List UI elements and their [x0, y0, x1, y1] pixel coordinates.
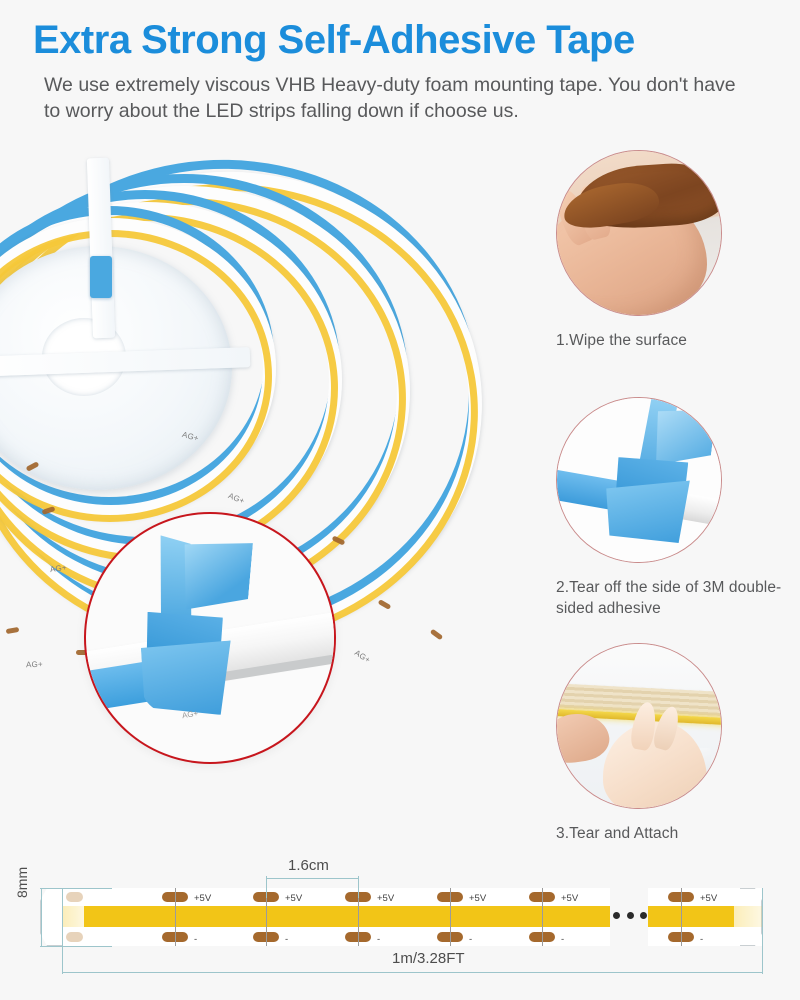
- step-3: 3.Tear and Attach: [556, 643, 800, 844]
- width-dim-tick: [41, 888, 42, 946]
- width-dim-top: [40, 888, 112, 889]
- width-label: 8mm: [14, 867, 30, 898]
- pad-label-negative: -: [377, 934, 380, 945]
- solder-pad-faint: [66, 932, 83, 942]
- ellipsis-dot: [627, 912, 634, 919]
- strip-marking: AG+: [26, 660, 43, 670]
- liner-tab: [90, 256, 112, 298]
- adhesive-liner-twist: [606, 481, 692, 546]
- pitch-label: 1.6cm: [288, 857, 329, 874]
- magnifier-callout: AG+: [84, 512, 336, 764]
- length-label: 1m/3.28FT: [392, 950, 465, 967]
- pad-tick: [681, 888, 682, 946]
- ellipsis-dot: [613, 912, 620, 919]
- width-dim-bottom: [40, 946, 112, 947]
- step-2-label: 2.Tear off the side of 3M double-sided a…: [556, 577, 800, 619]
- pad-label-positive: +5V: [469, 893, 486, 904]
- page-subtitle: We use extremely viscous VHB Heavy-duty …: [44, 72, 744, 124]
- step-1: 1.Wipe the surface: [556, 150, 800, 351]
- pad-tick: [450, 888, 451, 946]
- length-dim-tick-right: [762, 888, 763, 974]
- cob-fade-right: [734, 906, 762, 927]
- cob-fade-left: [62, 906, 86, 927]
- pitch-dim-tick-left: [266, 876, 267, 898]
- strip-marking: AG+: [181, 709, 198, 720]
- pad-label-positive: +5V: [700, 893, 717, 904]
- pad-label-negative: -: [561, 934, 564, 945]
- ellipsis-dot: [640, 912, 647, 919]
- adhesive-liner-fold: [179, 537, 253, 615]
- length-dim-tick-left: [62, 888, 63, 974]
- pad-tick: [175, 888, 176, 946]
- pitch-dim-tick-right: [358, 876, 359, 898]
- installation-steps: 1.Wipe the surface 2.Tear off the side o…: [556, 150, 800, 844]
- strip-end-cap-left: [40, 888, 62, 946]
- step-3-image: [556, 643, 722, 809]
- step-2-image: [556, 397, 722, 563]
- step-2: 2.Tear off the side of 3M double-sided a…: [556, 397, 800, 619]
- pad-label-positive: +5V: [377, 893, 394, 904]
- pad-label-positive: +5V: [561, 893, 578, 904]
- length-dim-line: [62, 972, 763, 973]
- step-1-image: [556, 150, 722, 316]
- pad-label-negative: -: [285, 934, 288, 945]
- cob-emitter-main: [84, 906, 610, 927]
- pad-label-negative: -: [700, 934, 703, 945]
- pad-label-positive: +5V: [194, 893, 211, 904]
- cob-emitter-tail: [648, 906, 734, 927]
- page-title: Extra Strong Self-Adhesive Tape: [33, 18, 635, 63]
- pad-label-negative: -: [469, 934, 472, 945]
- continuation-ellipsis: [613, 912, 647, 919]
- solder-pad-faint: [66, 892, 83, 902]
- step-1-label: 1.Wipe the surface: [556, 330, 800, 351]
- pad-tick: [542, 888, 543, 946]
- adhesive-liner-fold: [141, 640, 234, 717]
- pad-label-negative: -: [194, 934, 197, 945]
- pitch-dim-line: [266, 878, 359, 879]
- pad-label-positive: +5V: [285, 893, 302, 904]
